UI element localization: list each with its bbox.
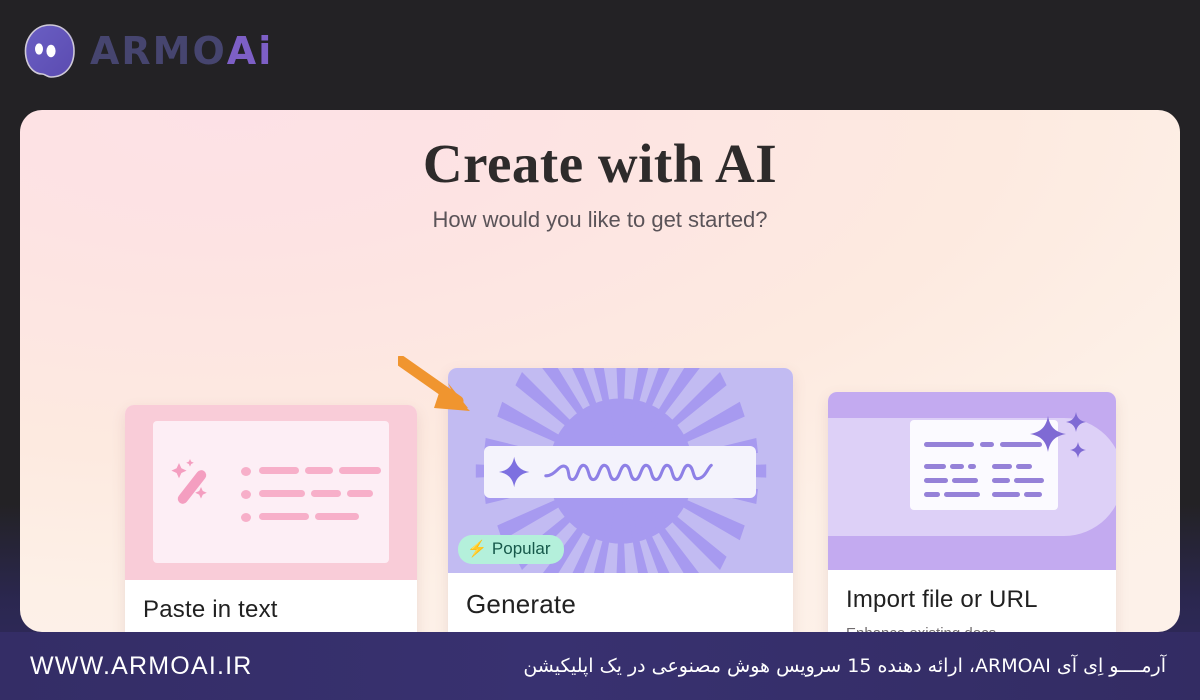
card-art-generate: ⚡ Popular xyxy=(448,368,793,573)
page-background: ARMOAi Create with AI How would you like… xyxy=(0,0,1200,700)
card-title: Import file or URL xyxy=(846,586,1098,614)
card-import-file-or-url[interactable]: Import file or URL Enhance existing docs… xyxy=(828,392,1116,632)
document-sparkle-icon xyxy=(1026,410,1096,472)
blob-mascot-icon xyxy=(20,22,80,80)
site-url[interactable]: WWW.ARMOAI.IR xyxy=(30,652,253,681)
card-paste-in-text[interactable]: Paste in text Create from notes, an outl… xyxy=(125,405,417,632)
card-title: Generate xyxy=(466,589,775,620)
create-with-ai-panel: Create with AI How would you like to get… xyxy=(20,110,1180,632)
card-description: Enhance existing docs, presentations, or… xyxy=(846,623,1098,632)
card-title: Paste in text xyxy=(143,596,399,624)
card-generate[interactable]: ⚡ Popular Generate Create from a one-lin… xyxy=(448,368,793,632)
prompt-input-illustration xyxy=(484,446,756,498)
brand-name-primary: ARMO xyxy=(90,32,227,70)
card-body-generate: Generate Create from a one-line prompt i… xyxy=(448,573,793,632)
card-art-paste xyxy=(125,405,417,580)
card-body-import: Import file or URL Enhance existing docs… xyxy=(828,570,1116,632)
card-art-import xyxy=(828,392,1116,570)
status-badge-popular: ⚡ Popular xyxy=(458,535,564,564)
sparkle-icon xyxy=(498,455,530,489)
brand-name-accent: Ai xyxy=(227,32,273,70)
footer: WWW.ARMOAI.IR آرمــــو اِی آی ARMOAI، ار… xyxy=(0,632,1200,700)
brand-logo[interactable]: ARMOAi xyxy=(20,16,273,86)
lightning-bolt-icon: ⚡ xyxy=(467,539,487,559)
scribble-line-icon xyxy=(542,456,742,488)
brand-wordmark: ARMOAi xyxy=(90,32,273,70)
magic-wand-icon xyxy=(171,457,241,521)
badge-label: Popular xyxy=(492,539,551,559)
footer-tagline: آرمــــو اِی آی ARMOAI، ارائه دهنده 15 س… xyxy=(523,655,1170,677)
orange-arrow-icon xyxy=(398,356,484,422)
card-body-paste: Paste in text Create from notes, an outl… xyxy=(125,580,417,632)
option-cards-row: Paste in text Create from notes, an outl… xyxy=(20,110,1180,632)
